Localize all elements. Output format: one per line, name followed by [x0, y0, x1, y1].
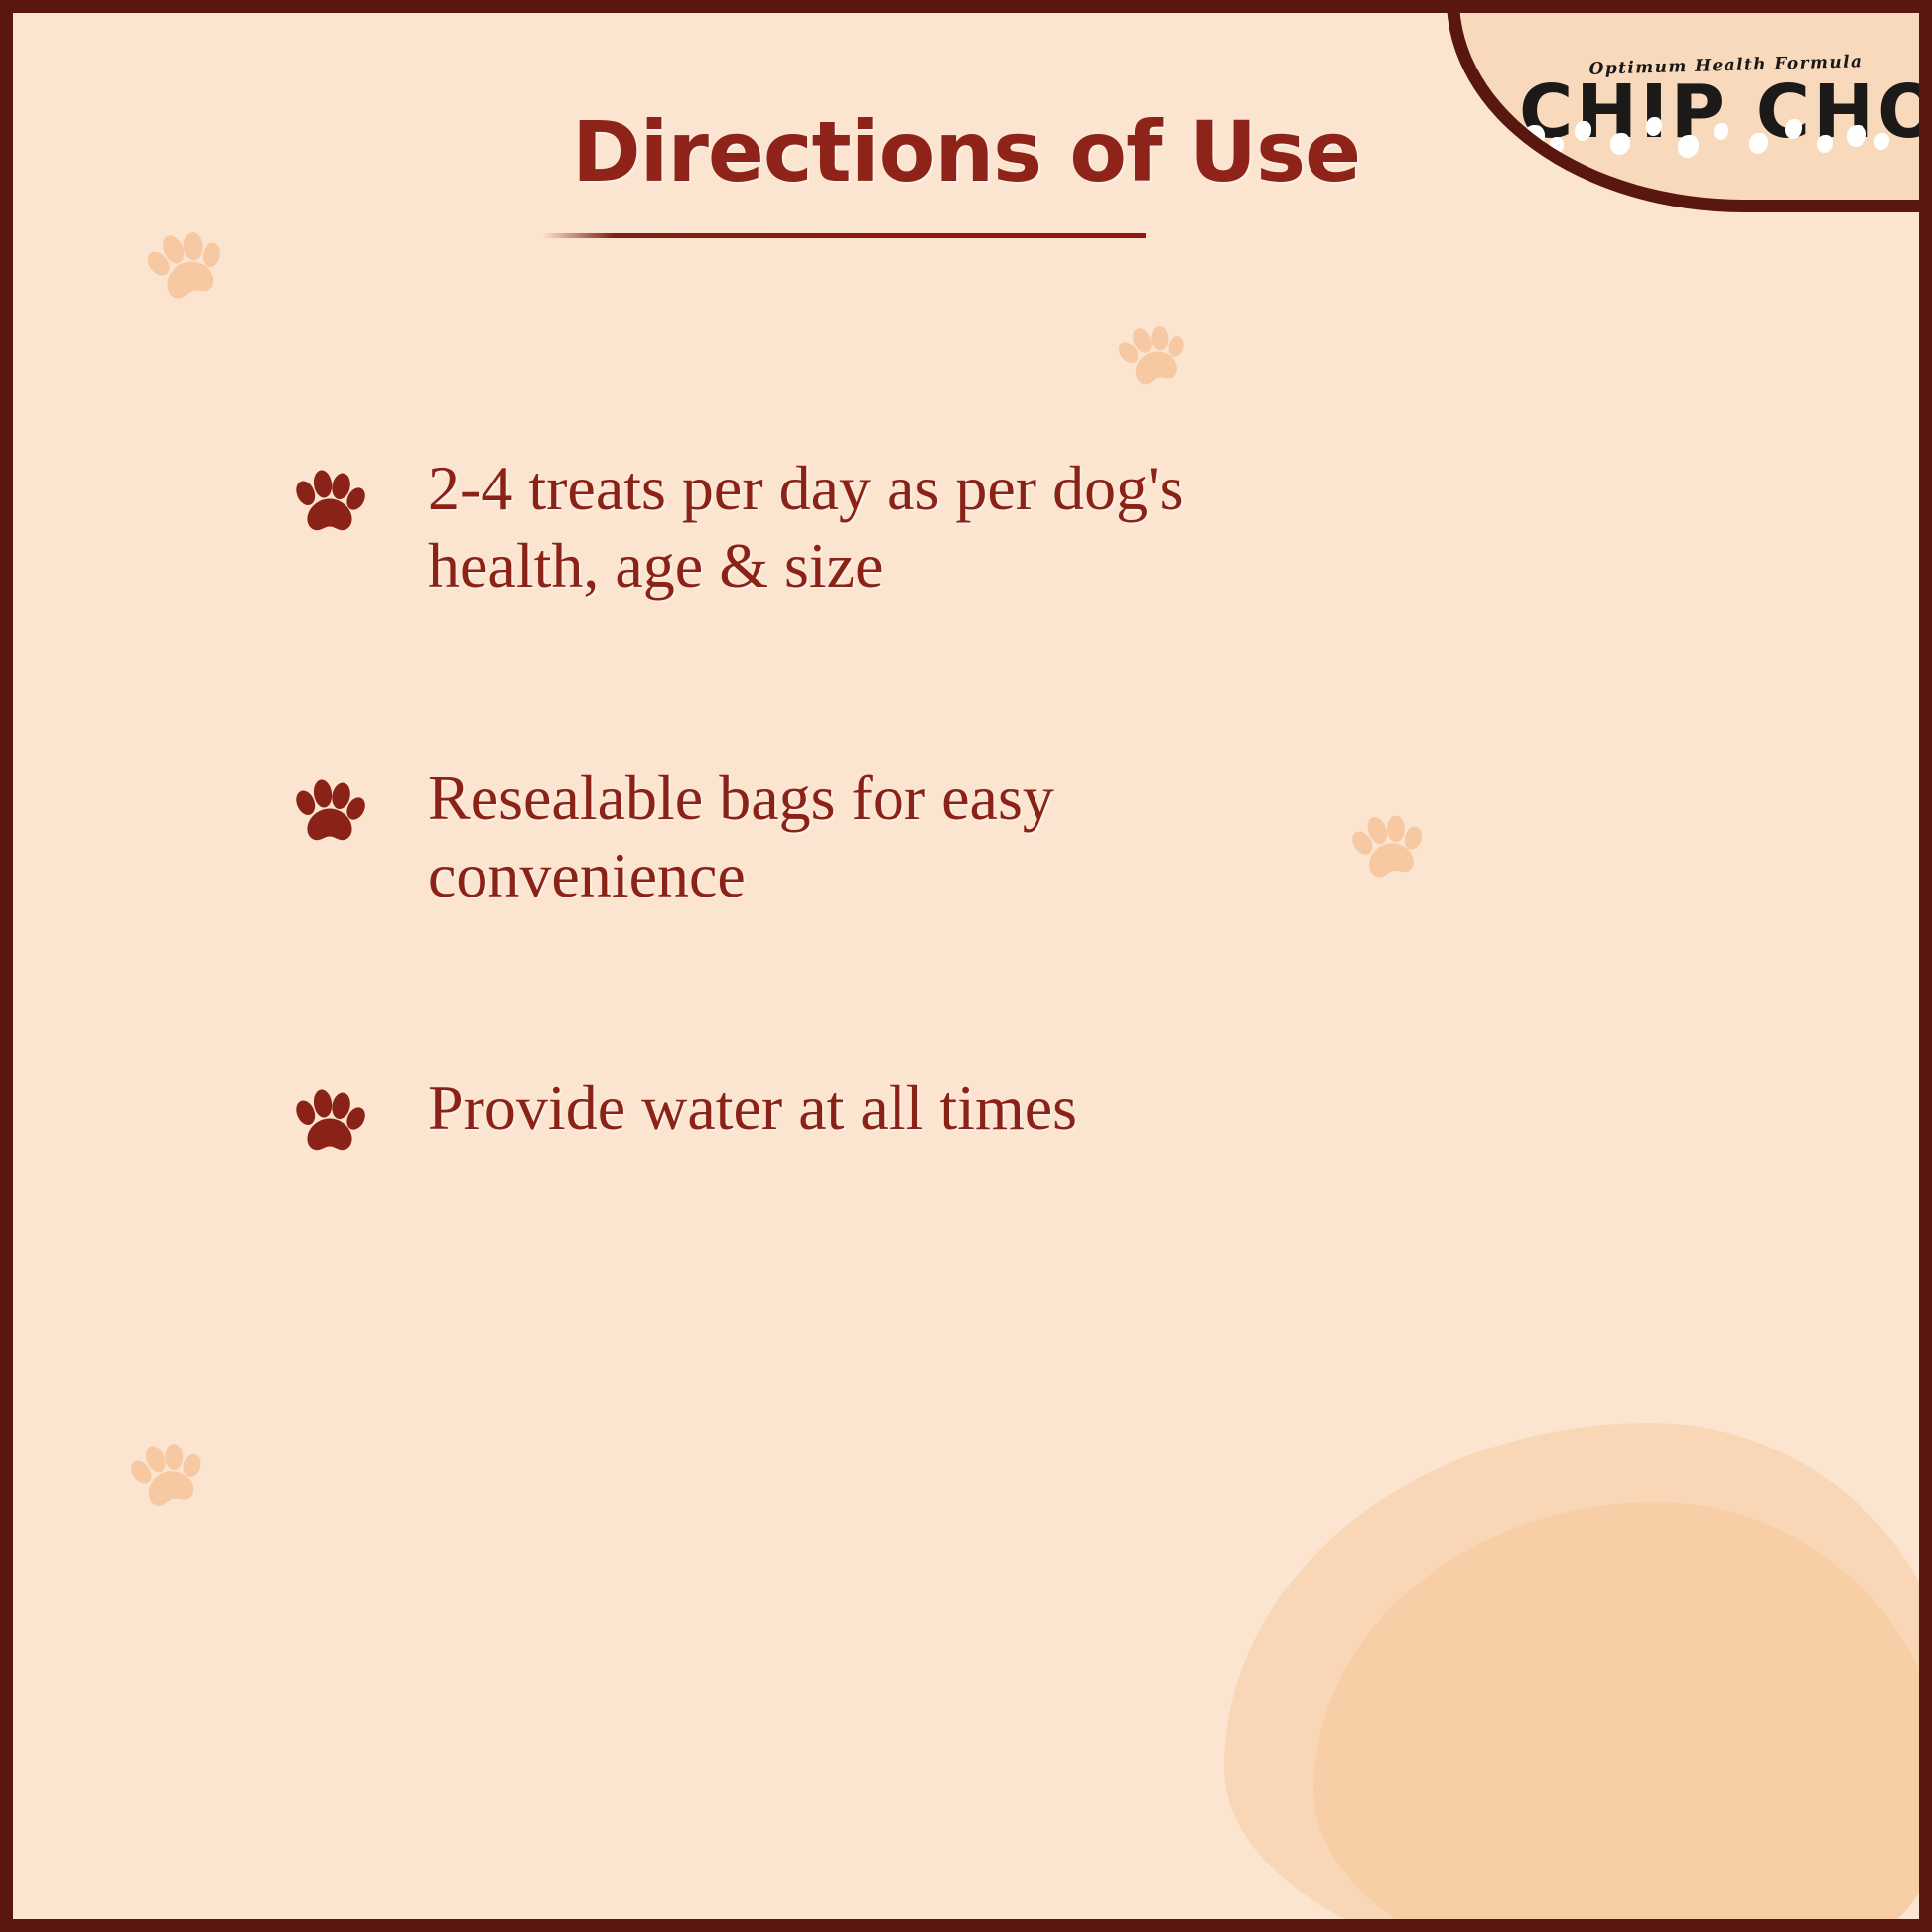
list-item: 2-4 treats per day as per dog's health, …: [293, 450, 1286, 605]
list-item: Provide water at all times: [293, 1069, 1286, 1162]
list-item-label: Resealable bags for easy convenience: [428, 759, 1282, 914]
paw-print-icon: [293, 777, 366, 852]
title-underline-rule: [542, 233, 1146, 238]
decorative-paw-print-icon: [1345, 805, 1432, 889]
decorative-paw-print-icon: [138, 220, 232, 313]
paw-print-icon: [293, 1087, 366, 1162]
page-title-wrap: Directions of Use: [13, 108, 1919, 196]
decorative-paw-print-icon: [123, 1433, 211, 1518]
list-item-label: 2-4 treats per day as per dog's health, …: [428, 450, 1282, 605]
poster-frame: Optimum Health Formula CHIP CHOPS Direct…: [0, 0, 1932, 1932]
paw-print-icon: [293, 468, 366, 542]
page-title: Directions of Use: [13, 108, 1919, 196]
directions-list: 2-4 treats per day as per dog's health, …: [293, 450, 1286, 1162]
list-item-label: Provide water at all times: [428, 1069, 1077, 1147]
list-item: Resealable bags for easy convenience: [293, 759, 1286, 914]
decorative-blob-back: [1224, 1423, 1919, 1919]
poster-canvas: Optimum Health Formula CHIP CHOPS Direct…: [13, 13, 1919, 1919]
decorative-blob-front: [1313, 1502, 1919, 1919]
decorative-paw-print-icon: [1111, 316, 1194, 396]
